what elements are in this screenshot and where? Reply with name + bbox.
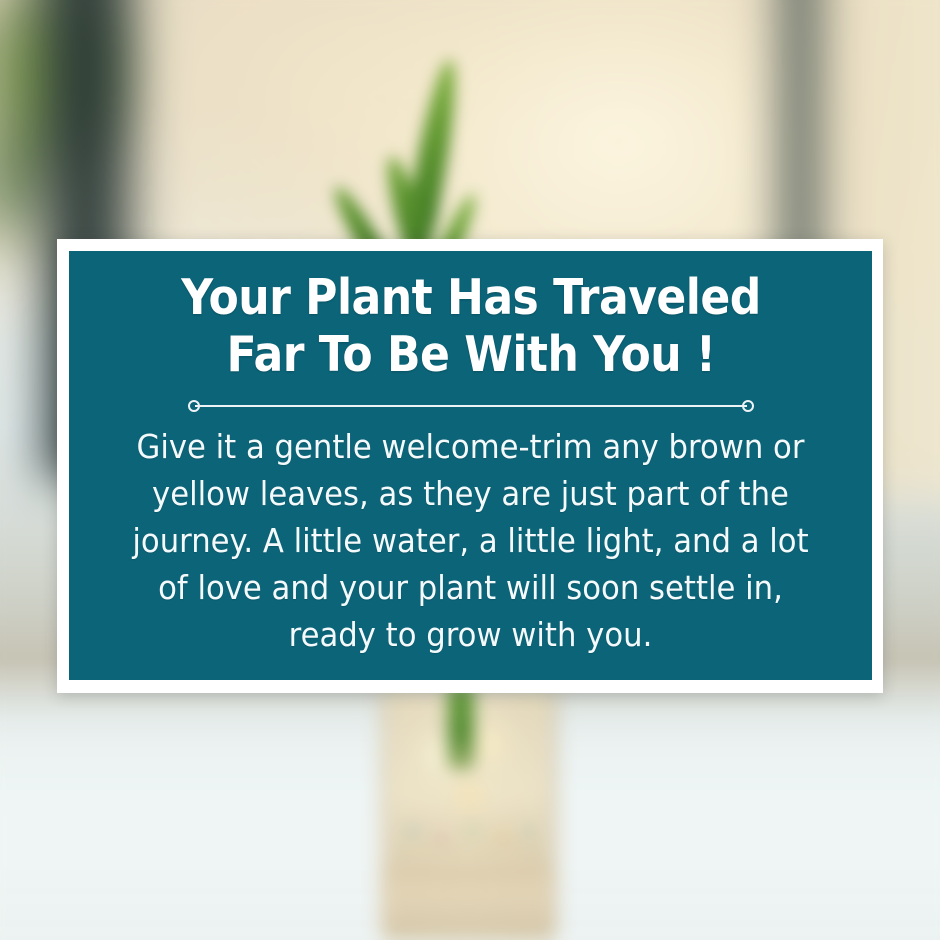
- message-card: Your Plant Has Traveled Far To Be With Y…: [69, 251, 872, 680]
- card-body-text: Give it a gentle welcome-trim any brown …: [123, 423, 818, 658]
- decorative-divider: [188, 399, 754, 413]
- card-title: Your Plant Has Traveled Far To Be With Y…: [181, 269, 761, 383]
- plant-care-card-image: Your Plant Has Traveled Far To Be With Y…: [0, 0, 940, 940]
- message-card-frame: Your Plant Has Traveled Far To Be With Y…: [57, 239, 883, 693]
- divider-ring-right-icon: [742, 400, 754, 412]
- divider-line: [195, 405, 747, 407]
